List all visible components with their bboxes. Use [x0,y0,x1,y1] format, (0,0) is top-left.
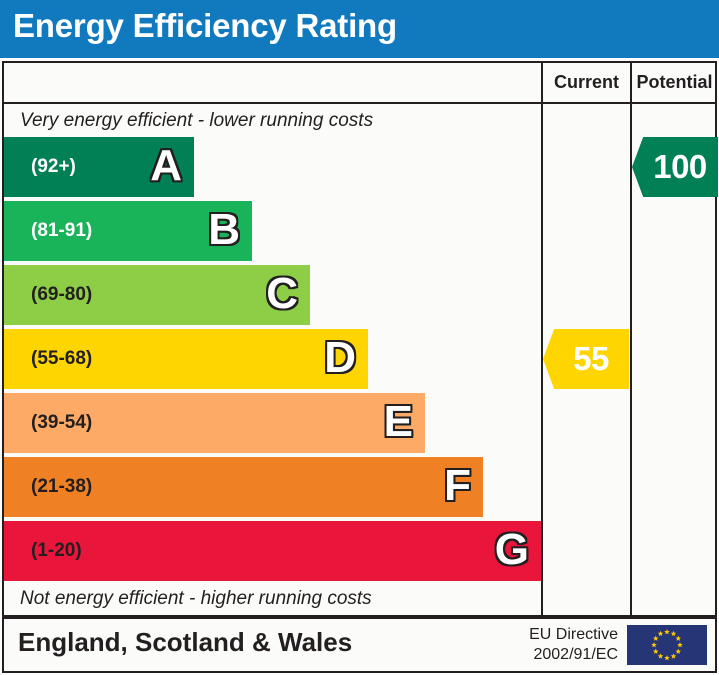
column-divider-potential [630,63,632,615]
band-range-f: (21-38) [31,457,92,517]
rating-bands: (92+)A(81-91)B(69-80)C(55-68)D(39-54)E(2… [4,137,541,582]
band-bar-f: (21-38)F [4,457,483,517]
rating-band-b: (81-91)B [4,201,541,261]
footer-region-label: England, Scotland & Wales [18,627,352,658]
rating-band-f: (21-38)F [4,457,541,517]
band-letter-b: B [208,201,240,261]
band-range-g: (1-20) [31,521,82,581]
band-range-a: (92+) [31,137,76,197]
band-range-d: (55-68) [31,329,92,389]
page-title: Energy Efficiency Rating [13,7,397,45]
band-bar-g: (1-20)G [4,521,541,581]
caption-top: Very energy efficient - lower running co… [20,110,373,132]
potential-rating-value: 100 [643,148,707,186]
footer: England, Scotland & Wales EU Directive 2… [2,617,717,673]
potential-rating-marker: 100 [632,137,718,197]
band-range-c: (69-80) [31,265,92,325]
column-header-current: Current [543,63,630,102]
band-letter-a: A [150,137,182,197]
current-rating-value: 55 [563,340,609,378]
band-range-e: (39-54) [31,393,92,453]
band-range-b: (81-91) [31,201,92,261]
band-letter-c: C [266,265,298,325]
rating-band-c: (69-80)C [4,265,541,325]
column-header-potential: Potential [632,63,717,102]
band-bar-a: (92+)A [4,137,194,197]
directive-line-2: 2002/91/EC [529,645,618,665]
title-banner: Energy Efficiency Rating [0,0,719,58]
eu-flag-icon [627,625,707,665]
rating-band-g: (1-20)G [4,521,541,581]
rating-band-d: (55-68)D [4,329,541,389]
band-letter-f: F [444,457,471,517]
band-letter-e: E [384,393,413,453]
caption-bottom: Not energy efficient - higher running co… [20,588,372,610]
band-bar-d: (55-68)D [4,329,368,389]
chart-frame: Current Potential Very energy efficient … [2,61,717,617]
band-bar-b: (81-91)B [4,201,252,261]
directive-line-1: EU Directive [529,625,618,645]
band-letter-g: G [495,521,529,581]
band-letter-d: D [324,329,356,389]
column-divider-current [541,63,543,615]
rating-band-e: (39-54)E [4,393,541,453]
band-bar-e: (39-54)E [4,393,425,453]
rating-band-a: (92+)A [4,137,541,197]
footer-directive-label: EU Directive 2002/91/EC [529,625,618,665]
band-bar-c: (69-80)C [4,265,310,325]
current-rating-marker: 55 [543,329,629,389]
energy-efficiency-rating-chart: Energy Efficiency Rating Current Potenti… [0,0,719,675]
